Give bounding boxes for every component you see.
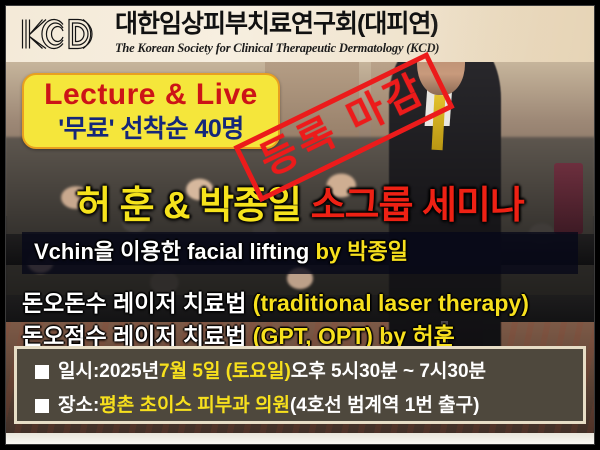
brand-text: 대한임상피부치료연구회(대피연) The Korean Society for …	[115, 12, 439, 55]
poster-header: 대한임상피부치료연구회(대피연) The Korean Society for …	[5, 5, 595, 62]
place-highlight: 평촌 초이스 피부과 의원	[99, 394, 290, 418]
date-label: 일시:	[58, 360, 99, 384]
program-item-1: Vchin을 이용한 facial lifting by 박종일	[34, 241, 408, 263]
free-lecture-callout-box: Lecture & Live '무료' 선착순 40명	[22, 73, 280, 149]
bottom-strip	[5, 433, 595, 445]
date-time: 오후 5시30분 ~ 7시30분	[291, 360, 486, 384]
org-name-english: The Korean Society for Clinical Therapeu…	[115, 42, 439, 55]
square-bullet-icon	[35, 399, 49, 413]
date-year: 2025년	[99, 360, 159, 384]
date-highlight: 7월 5일 (토요일)	[159, 360, 291, 384]
org-name-korean: 대한임상피부치료연구회(대피연)	[115, 12, 439, 37]
event-date-row: 일시: 2025년 7월 5일 (토요일) 오후 5시30분 ~ 7시30분	[35, 360, 583, 384]
program-item-2: 돈오돈수 레이저 치료법 (traditional laser therapy)	[22, 292, 529, 315]
page-title: 허 훈 & 박종일 소그룹 세미나	[0, 187, 600, 225]
seminar-poster: 대한임상피부치료연구회(대피연) The Korean Society for …	[0, 0, 600, 450]
place-label: 장소:	[58, 394, 99, 418]
callout-line-free-seats: '무료' 선착순 40명	[58, 117, 244, 142]
program-item-2-title: 돈오돈수 레이저 치료법	[22, 290, 253, 316]
headline-event-type: 소그룹 세미나	[311, 185, 524, 227]
program-item-3: 돈오점수 레이저 치료법 (GPT, OPT) by 허훈	[22, 325, 455, 348]
square-bullet-icon	[35, 365, 49, 379]
event-details-box: 일시: 2025년 7월 5일 (토요일) 오후 5시30분 ~ 7시30분 장…	[14, 346, 586, 424]
program-item-2-subtitle: (traditional laser therapy)	[253, 290, 529, 316]
callout-line-lecture-live: Lecture & Live	[44, 80, 258, 110]
program-item-1-presenter: by 박종일	[315, 239, 408, 264]
place-directions: (4호선 범계역 1번 출구)	[290, 394, 479, 418]
kcd-monogram-logo-icon	[19, 14, 105, 54]
event-place-row: 장소: 평촌 초이스 피부과 의원 (4호선 범계역 1번 출구)	[35, 394, 583, 418]
program-item-1-title: Vchin을 이용한 facial lifting	[34, 239, 315, 264]
